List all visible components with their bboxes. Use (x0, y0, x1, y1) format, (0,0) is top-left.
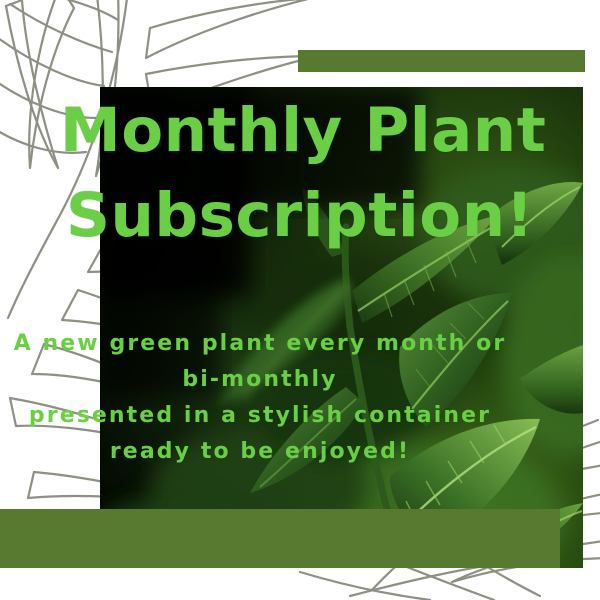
headline-line-2: Subscription! (60, 185, 540, 246)
body-line-4: ready to be enjoyed! (0, 441, 520, 463)
poster-canvas: Monthly Plant Subscription! A new green … (0, 0, 600, 600)
bottom-accent-bar (0, 509, 300, 568)
headline-line-1: Monthly Plant (60, 100, 540, 161)
body-line-1: A new green plant every month or (0, 333, 520, 355)
top-accent-bar (298, 50, 585, 72)
body-line-3: presented in a stylish container (0, 405, 520, 427)
body-line-2: bi-monthly (0, 369, 520, 391)
bottom-accent-bar-overlay (300, 509, 560, 568)
